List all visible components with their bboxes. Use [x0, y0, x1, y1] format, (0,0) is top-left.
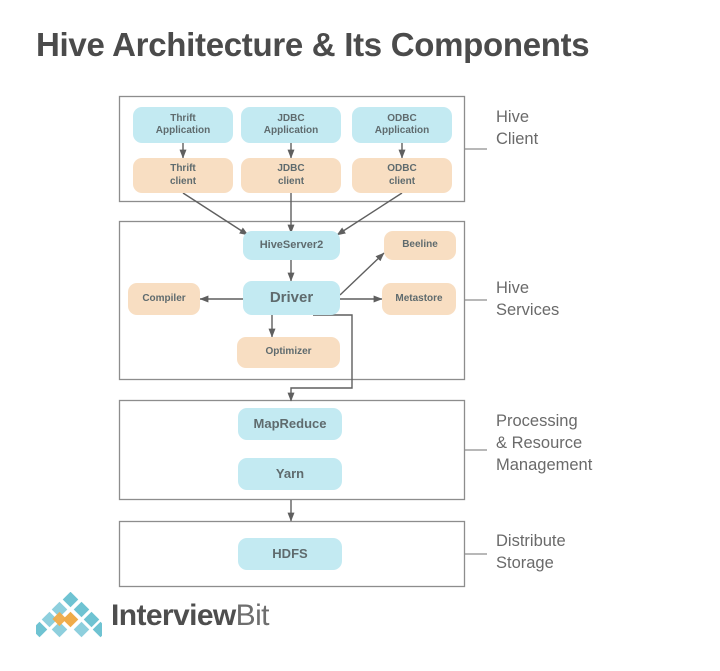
node-jdbc-client[interactable]: JDBCclient — [241, 158, 341, 193]
diagram-canvas — [0, 0, 720, 671]
node-driver-label: Driver — [246, 289, 337, 308]
arrow-driver-to-beeline — [340, 253, 384, 295]
logo-name-light: Bit — [236, 599, 269, 632]
node-optimizer[interactable]: Optimizer — [237, 337, 340, 368]
node-jdbc-client-label: JDBCclient — [244, 163, 338, 188]
node-metastore[interactable]: Metastore — [382, 283, 456, 315]
arrow-odbc-client-to-hiveserver2 — [337, 193, 402, 235]
node-thrift-application-label: ThriftApplication — [136, 113, 230, 138]
node-mapreduce[interactable]: MapReduce — [238, 408, 342, 440]
node-hdfs[interactable]: HDFS — [238, 538, 342, 570]
node-odbc-client-label: ODBCclient — [355, 163, 449, 188]
node-compiler-label: Compiler — [131, 293, 197, 306]
node-thrift-application[interactable]: ThriftApplication — [133, 107, 233, 143]
node-driver[interactable]: Driver — [243, 281, 340, 315]
interviewbit-logo-text: InterviewBit — [111, 599, 269, 633]
node-jdbc-application-label: JDBCApplication — [244, 113, 338, 138]
node-metastore-label: Metastore — [385, 293, 453, 306]
arrow-thrift-client-to-hiveserver2 — [183, 193, 248, 235]
node-hiveserver2[interactable]: HiveServer2 — [243, 231, 340, 260]
node-hiveserver2-label: HiveServer2 — [246, 239, 337, 253]
node-mapreduce-label: MapReduce — [241, 416, 339, 432]
node-yarn-label: Yarn — [241, 466, 339, 482]
node-jdbc-application[interactable]: JDBCApplication — [241, 107, 341, 143]
section-label-processing-resource-management: Processing& ResourceManagement — [496, 411, 592, 477]
node-optimizer-label: Optimizer — [240, 346, 337, 359]
interviewbit-logo[interactable]: InterviewBit — [36, 592, 269, 640]
node-beeline[interactable]: Beeline — [384, 231, 456, 260]
node-beeline-label: Beeline — [387, 239, 453, 252]
node-odbc-client[interactable]: ODBCclient — [352, 158, 452, 193]
interviewbit-logo-mark — [36, 592, 102, 640]
section-label-hive-client: HiveClient — [496, 107, 538, 151]
logo-name-bold: Interview — [111, 599, 236, 632]
node-odbc-application-label: ODBCApplication — [355, 113, 449, 138]
node-thrift-client-label: Thriftclient — [136, 163, 230, 188]
node-odbc-application[interactable]: ODBCApplication — [352, 107, 452, 143]
section-label-distribute-storage: DistributeStorage — [496, 531, 566, 575]
node-compiler[interactable]: Compiler — [128, 283, 200, 315]
node-hdfs-label: HDFS — [241, 546, 339, 562]
node-yarn[interactable]: Yarn — [238, 458, 342, 490]
section-label-hive-services: HiveServices — [496, 278, 559, 322]
node-thrift-client[interactable]: Thriftclient — [133, 158, 233, 193]
